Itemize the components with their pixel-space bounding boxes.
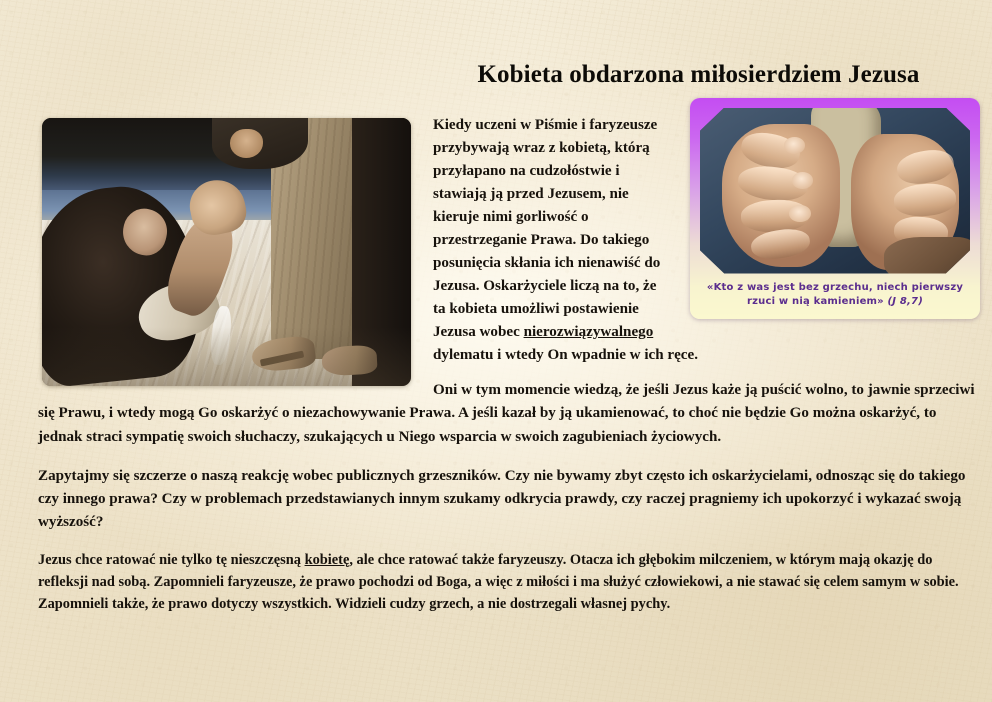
sleeve xyxy=(884,237,970,274)
ground-shadow xyxy=(42,327,411,386)
caption-reference: (J 8,7) xyxy=(888,296,923,307)
paragraph-3: Zapytajmy się szczerze o naszą reakcję w… xyxy=(38,465,980,534)
page-content: Kobieta obdarzona miłosierdziem Jezusa xyxy=(0,58,992,702)
fingernail xyxy=(792,172,814,189)
caption-quote: «Kto z was jest bez grzechu, niech pierw… xyxy=(707,282,963,308)
fingernail xyxy=(784,137,806,154)
photo-scene-left xyxy=(42,118,411,386)
document-page: Kobieta obdarzona miłosierdziem Jezusa xyxy=(0,0,992,702)
paragraph-4-underlined-term: kobietę xyxy=(305,552,350,568)
hands-holding-stone-photo xyxy=(700,108,970,274)
paragraph-4: Jezus chce ratować nie tylko tę nieszczę… xyxy=(38,550,980,616)
woman-kneeling-before-jesus-photo xyxy=(42,118,411,386)
paragraph-2: Oni w tym momencie wiedzą, że jeśli Jezu… xyxy=(38,379,980,448)
paragraph-1-text-after: dylematu i wtedy On wpadnie w ich ręce. xyxy=(433,347,698,363)
paragraph-1-underlined-term: nierozwiązywalnego xyxy=(524,324,654,340)
paragraph-1-text-before: Kiedy uczeni w Piśmie i faryzeusze przyb… xyxy=(433,117,660,341)
page-title: Kobieta obdarzona miłosierdziem Jezusa xyxy=(38,58,964,92)
fingernail xyxy=(789,205,811,222)
photo-caption: «Kto z was jest bez grzechu, niech pierw… xyxy=(702,281,968,310)
paragraph-4-text-before: Jezus chce ratować nie tylko tę nieszczę… xyxy=(38,552,305,568)
hands-holding-stone-figure: «Kto z was jest bez grzechu, niech pierw… xyxy=(690,98,980,319)
